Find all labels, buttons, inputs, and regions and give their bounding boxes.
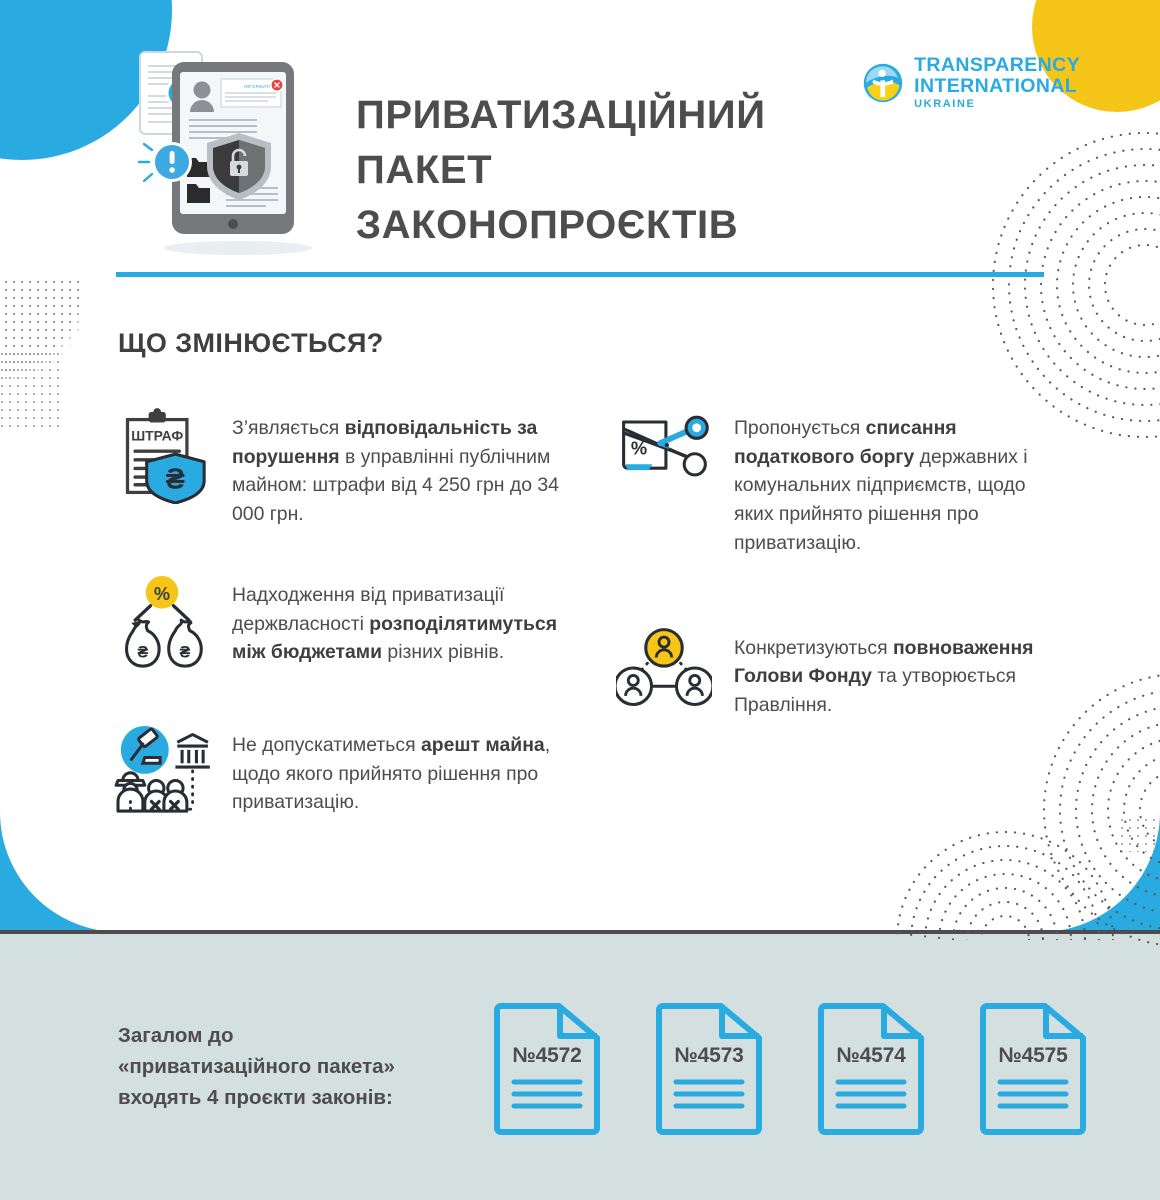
logo-line-1: TRANSPARENCY (914, 56, 1080, 76)
clipboard-fine-shield-icon: ШТРАФ ₴ (110, 408, 214, 512)
page-title-line-1: ПРИВАТИЗАЦІЙНИЙ (356, 88, 876, 143)
dotted-arcs-decoration-right (980, 120, 1160, 450)
infographic-page: INFORMATION (0, 0, 1160, 1200)
fact-text: Не допускатиметься арешт майна, щодо яко… (232, 725, 560, 817)
svg-text:%: % (154, 584, 170, 604)
gavel-court-arrest-icon (110, 725, 214, 829)
draft-law-card[interactable]: №4574 (816, 1002, 926, 1136)
document-icon (978, 1002, 1088, 1136)
draft-law-number: №4574 (816, 1044, 926, 1068)
svg-text:₴: ₴ (180, 643, 191, 661)
facts-column-right: % Пропонується списання податкового борг… (612, 408, 1042, 778)
footer-caption: Загалом до «приватизаційного пакета» вхо… (118, 1020, 498, 1113)
svg-text:ШТРАФ: ШТРАФ (131, 428, 183, 444)
fact-item: ШТРАФ ₴ З’являється відповідальність за … (110, 408, 560, 529)
fact-text: Надходження від приватизації держвласнос… (232, 575, 560, 667)
logo-line-3: UKRAINE (914, 99, 1080, 110)
document-icon (492, 1002, 602, 1136)
header-rule-divider (116, 272, 1044, 277)
facts-column-left: ШТРАФ ₴ З’являється відповідальність за … (110, 408, 560, 875)
fact-item: Конкретизуються повноваження Голови Фонд… (612, 628, 1042, 732)
halftone-dots-decoration-left-lower (0, 350, 60, 430)
fact-item: % Пропонується списання податкового борг… (612, 408, 1042, 558)
fact-text: Пропонується списання податкового боргу … (734, 408, 1042, 558)
logo-wordmark: TRANSPARENCY INTERNATIONAL UKRAINE (914, 56, 1080, 110)
percent-money-bags-icon: % ₴ ₴ (110, 575, 214, 679)
draft-law-card[interactable]: №4575 (978, 1002, 1088, 1136)
fact-text: З’являється відповідальність за порушенн… (232, 408, 560, 529)
tablet-document-security-illustration: INFORMATION (126, 38, 346, 258)
transparency-international-logo: TRANSPARENCY INTERNATIONAL UKRAINE (862, 56, 1080, 110)
document-icon (654, 1002, 764, 1136)
draft-law-card[interactable]: №4572 (492, 1002, 602, 1136)
footer-caption-line-2: «приватизаційного пакета» (118, 1051, 498, 1082)
scissors-cut-tax-debt-icon: % (612, 408, 716, 512)
logo-line-2: INTERNATIONAL (914, 77, 1080, 97)
dotted-arcs-decoration-bottom (885, 800, 1125, 940)
fact-item: Не допускатиметься арешт майна, щодо яко… (110, 725, 560, 829)
section-heading: ЩО ЗМІНЮЄТЬСЯ? (118, 328, 384, 359)
document-icon (816, 1002, 926, 1136)
org-chart-people-icon (612, 628, 716, 732)
footer-caption-line-1: Загалом до (118, 1020, 498, 1051)
fact-item: % ₴ ₴ Надходження від приватизації держв… (110, 575, 560, 679)
draft-law-number: №4573 (654, 1044, 764, 1068)
draft-law-number: №4575 (978, 1044, 1088, 1068)
page-title-line-2: ПАКЕТ ЗАКОНОПРОЄКТІВ (356, 143, 876, 253)
page-title: ПРИВАТИЗАЦІЙНИЙ ПАКЕТ ЗАКОНОПРОЄКТІВ (356, 88, 876, 254)
ti-logo-mark-icon (862, 62, 904, 104)
fact-text: Конкретизуються повноваження Голови Фонд… (734, 628, 1042, 720)
footer-caption-line-3: входять 4 проєкти законів: (118, 1082, 498, 1113)
svg-text:₴: ₴ (137, 643, 148, 661)
draft-law-card[interactable]: №4573 (654, 1002, 764, 1136)
svg-text:₴: ₴ (166, 464, 185, 496)
draft-law-number: №4572 (492, 1044, 602, 1068)
draft-law-card-list: №4572 №4573 (492, 1002, 1088, 1136)
